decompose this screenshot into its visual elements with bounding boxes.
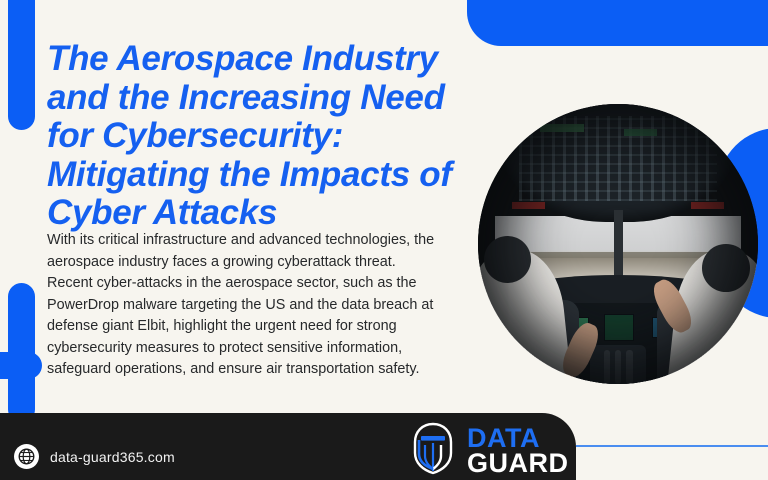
brand-word-guard: GUARD: [467, 451, 569, 476]
website-url-text: data-guard365.com: [50, 449, 175, 465]
body-paragraph: With its critical infrastructure and adv…: [47, 230, 439, 381]
cockpit-illustration: [478, 104, 758, 384]
website-link[interactable]: data-guard365.com: [14, 444, 175, 469]
brand-word-data: DATA: [467, 426, 569, 451]
footer-accent-line: [576, 445, 768, 447]
cockpit-photo: [478, 104, 758, 384]
blue-plus-horizontal-decoration: [0, 352, 42, 379]
blue-rounded-block-decoration: [467, 0, 768, 46]
brand-logo: DATA GUARD: [408, 421, 569, 480]
blue-vertical-bar-decoration: [8, 0, 35, 130]
photo-vignette: [478, 104, 758, 384]
shield-helmet-icon: [408, 421, 458, 480]
globe-icon: [14, 444, 39, 469]
page-title: The Aerospace Industry and the Increasin…: [47, 40, 467, 233]
social-card: The Aerospace Industry and the Increasin…: [0, 0, 768, 480]
brand-wordmark: DATA GUARD: [467, 426, 569, 476]
